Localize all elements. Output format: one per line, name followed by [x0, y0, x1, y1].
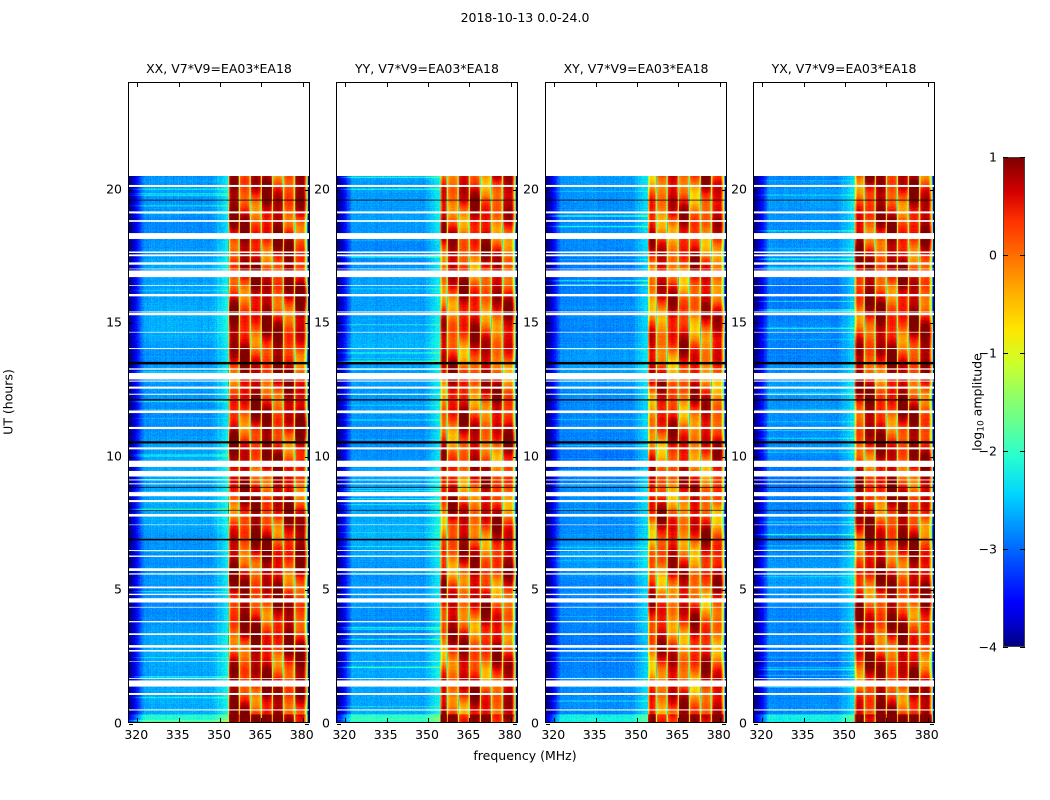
y-tick-label: 5 — [114, 582, 122, 597]
y-tick-right — [722, 457, 726, 458]
x-tick — [804, 718, 805, 722]
x-tick — [554, 718, 555, 722]
x-tick-label: 320 — [332, 727, 356, 742]
y-tick-right — [305, 724, 309, 725]
x-tick-top — [179, 83, 180, 87]
y-tick-right — [930, 190, 934, 191]
y-tick — [754, 190, 758, 191]
y-tick-label: 10 — [314, 448, 330, 463]
y-tick — [337, 323, 341, 324]
y-tick-label: 0 — [114, 716, 122, 731]
x-tick-top — [678, 83, 679, 87]
y-tick-label: 15 — [523, 315, 539, 330]
y-tick — [129, 457, 133, 458]
x-tick-top — [762, 83, 763, 87]
y-tick — [337, 457, 341, 458]
y-tick-label: 20 — [314, 181, 330, 196]
y-tick-right — [305, 323, 309, 324]
colorbar-label-sub: 10 — [977, 420, 987, 431]
x-tick-label: 320 — [541, 727, 565, 742]
y-tick-label: 10 — [731, 448, 747, 463]
x-tick-top — [137, 83, 138, 87]
x-tick-label: 320 — [749, 727, 773, 742]
y-tick — [546, 457, 550, 458]
colorbar-tick-label: −3 — [979, 542, 997, 557]
x-tick-label: 380 — [915, 727, 939, 742]
y-tick — [129, 724, 133, 725]
x-tick — [303, 718, 304, 722]
y-tick — [337, 724, 341, 725]
x-tick-label: 365 — [665, 727, 689, 742]
x-tick — [720, 718, 721, 722]
colorbar-tick-label: 0 — [989, 248, 997, 263]
colorbar-tick-left — [1003, 255, 1008, 256]
y-tick — [546, 724, 550, 725]
x-tick-label: 365 — [456, 727, 480, 742]
y-tick — [546, 323, 550, 324]
y-tick-right — [513, 724, 517, 725]
colorbar-tick — [1020, 451, 1025, 452]
y-tick-label: 5 — [739, 582, 747, 597]
colorbar-tick — [1020, 255, 1025, 256]
y-tick — [129, 190, 133, 191]
y-tick-right — [305, 190, 309, 191]
figure-canvas: 2018-10-13 0.0-24.0 XX, V7*V9=EA03*EA18Y… — [0, 0, 1050, 800]
spectrum-panel-yx: YX, V7*V9=EA03*EA18 — [753, 82, 935, 723]
x-tick — [596, 718, 597, 722]
y-tick-right — [930, 724, 934, 725]
x-axis-label: frequency (MHz) — [0, 748, 1050, 763]
x-tick-top — [220, 83, 221, 87]
y-tick — [129, 590, 133, 591]
y-tick-right — [930, 323, 934, 324]
panel-title-xy: XY, V7*V9=EA03*EA18 — [564, 61, 709, 76]
y-tick — [754, 323, 758, 324]
x-tick-label: 350 — [207, 727, 231, 742]
x-tick — [678, 718, 679, 722]
y-tick — [754, 724, 758, 725]
panel-title-xx: XX, V7*V9=EA03*EA18 — [146, 61, 292, 76]
y-tick-right — [513, 457, 517, 458]
x-tick-top — [345, 83, 346, 87]
x-tick — [762, 718, 763, 722]
colorbar-label: log10 amplitude — [969, 353, 986, 451]
x-tick-top — [845, 83, 846, 87]
spectrum-panel-xy: XY, V7*V9=EA03*EA18 — [545, 82, 727, 723]
y-tick-label: 10 — [523, 448, 539, 463]
x-tick — [928, 718, 929, 722]
x-tick — [179, 718, 180, 722]
colorbar — [1003, 157, 1025, 647]
y-tick-label: 20 — [106, 181, 122, 196]
x-tick-top — [469, 83, 470, 87]
heatmap-image-yy — [337, 176, 517, 722]
y-tick-label: 15 — [106, 315, 122, 330]
x-tick — [345, 718, 346, 722]
x-tick-top — [886, 83, 887, 87]
heatmap-image-xx — [129, 176, 309, 722]
colorbar-tick-left — [1003, 647, 1008, 648]
heatmap-image-xy — [546, 176, 726, 722]
colorbar-label-tail: amplitude — [969, 353, 984, 420]
y-tick-right — [305, 590, 309, 591]
x-tick-top — [428, 83, 429, 87]
x-tick-top — [804, 83, 805, 87]
y-tick-label: 20 — [523, 181, 539, 196]
y-tick-label: 0 — [322, 716, 330, 731]
y-tick — [754, 590, 758, 591]
x-tick-top — [511, 83, 512, 87]
y-tick — [546, 590, 550, 591]
x-tick-label: 335 — [583, 727, 607, 742]
y-tick-right — [722, 724, 726, 725]
y-axis-label: UT (hours) — [1, 369, 16, 435]
colorbar-tick-label: 1 — [989, 150, 997, 165]
y-tick-label: 5 — [322, 582, 330, 597]
y-tick-label: 5 — [531, 582, 539, 597]
y-tick-label: 20 — [731, 181, 747, 196]
x-tick-label: 350 — [832, 727, 856, 742]
colorbar-tick-left — [1003, 353, 1008, 354]
x-tick — [220, 718, 221, 722]
x-tick-label: 350 — [624, 727, 648, 742]
y-tick — [337, 590, 341, 591]
spectrum-panel-xx: XX, V7*V9=EA03*EA18 — [128, 82, 310, 723]
heatmap-canvas — [129, 176, 309, 722]
y-tick-right — [305, 457, 309, 458]
x-tick — [137, 718, 138, 722]
x-tick-top — [303, 83, 304, 87]
colorbar-tick-left — [1003, 549, 1008, 550]
y-tick-right — [722, 590, 726, 591]
x-tick — [261, 718, 262, 722]
x-tick-label: 335 — [166, 727, 190, 742]
heatmap-canvas — [546, 176, 726, 722]
x-tick — [469, 718, 470, 722]
y-tick-right — [722, 323, 726, 324]
y-tick-label: 10 — [106, 448, 122, 463]
x-tick-top — [928, 83, 929, 87]
x-tick — [428, 718, 429, 722]
heatmap-canvas — [754, 176, 934, 722]
y-tick-right — [513, 190, 517, 191]
heatmap-image-yx — [754, 176, 934, 722]
colorbar-tick — [1020, 647, 1025, 648]
x-tick-top — [554, 83, 555, 87]
x-tick-label: 335 — [791, 727, 815, 742]
x-tick — [511, 718, 512, 722]
y-tick-label: 0 — [739, 716, 747, 731]
spectrum-panel-yy: YY, V7*V9=EA03*EA18 — [336, 82, 518, 723]
colorbar-tick-left — [1003, 451, 1008, 452]
y-tick-label: 0 — [531, 716, 539, 731]
x-tick-label: 365 — [873, 727, 897, 742]
x-tick-top — [596, 83, 597, 87]
colorbar-label-base: log — [969, 432, 984, 451]
colorbar-tick — [1020, 157, 1025, 158]
y-tick-label: 15 — [314, 315, 330, 330]
x-tick-label: 365 — [248, 727, 272, 742]
x-tick-label: 380 — [290, 727, 314, 742]
x-tick-label: 350 — [415, 727, 439, 742]
y-tick-label: 15 — [731, 315, 747, 330]
y-tick — [754, 457, 758, 458]
y-tick-right — [930, 590, 934, 591]
y-tick — [129, 323, 133, 324]
y-tick — [546, 190, 550, 191]
colorbar-tick — [1020, 353, 1025, 354]
x-tick-top — [720, 83, 721, 87]
x-tick-label: 380 — [707, 727, 731, 742]
y-tick-right — [722, 190, 726, 191]
x-tick-label: 335 — [374, 727, 398, 742]
y-tick-right — [513, 590, 517, 591]
heatmap-canvas — [337, 176, 517, 722]
colorbar-tick — [1020, 549, 1025, 550]
y-tick-right — [930, 457, 934, 458]
x-tick — [637, 718, 638, 722]
figure-suptitle: 2018-10-13 0.0-24.0 — [0, 10, 1050, 25]
colorbar-tick-left — [1003, 157, 1008, 158]
x-tick-label: 380 — [498, 727, 522, 742]
x-tick-top — [387, 83, 388, 87]
panel-title-yx: YX, V7*V9=EA03*EA18 — [772, 61, 917, 76]
x-tick — [845, 718, 846, 722]
panel-title-yy: YY, V7*V9=EA03*EA18 — [355, 61, 499, 76]
y-tick — [337, 190, 341, 191]
x-tick — [886, 718, 887, 722]
x-tick-top — [637, 83, 638, 87]
x-tick — [387, 718, 388, 722]
colorbar-tick-label: −4 — [979, 640, 997, 655]
x-tick-label: 320 — [124, 727, 148, 742]
y-tick-right — [513, 323, 517, 324]
x-tick-top — [261, 83, 262, 87]
